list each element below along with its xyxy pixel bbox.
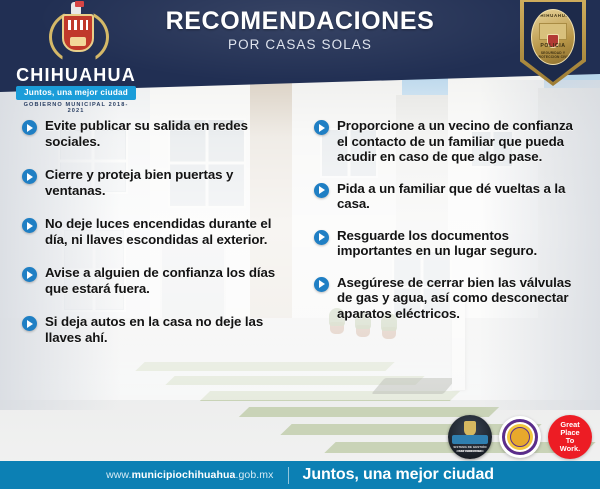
chevron-right-icon [22,267,37,282]
chevron-right-icon [314,277,329,292]
footer-badges: SISTEMA DE GESTIÓN ANTISOBORNO 37001 CER… [448,415,592,459]
great-place-to-work-badge: Great Place To Work. [548,415,592,459]
police-badge-icon: CHIHUAHUA POLICIA SEGURIDAD Y PROTECCION… [520,0,586,86]
footer-bar: www.municipiochihuahua.gob.mx Juntos, un… [0,461,600,489]
list-item-text: Resguarde los documentos importantes en … [337,228,586,259]
footer-website-url[interactable]: www.municipiochihuahua.gob.mx [106,469,273,481]
brand-name: CHIHUAHUA [16,66,136,84]
list-item: No deje luces encendidas durante el día,… [22,216,284,247]
shield-icon [62,14,94,52]
list-item-text: Avise a alguien de confianza los días qu… [45,265,284,296]
chevron-right-icon [314,120,329,135]
chevron-right-icon [314,183,329,198]
chevron-right-icon [22,218,37,233]
right-column: Proporcione a un vecino de confianza el … [300,118,600,363]
list-item: Avise a alguien de confianza los días qu… [22,265,284,296]
list-item-text: No deje luces encendidas durante el día,… [45,216,284,247]
brand-wordmark: CHIHUAHUA Juntos, una mejor ciudad GOBIE… [16,66,136,114]
list-item-text: Cierre y proteja bien puertas y ventanas… [45,167,284,198]
chevron-right-icon [22,120,37,135]
badge-bottom-text: SEGURIDAD Y PROTECCION CIVIL [532,51,574,59]
chevron-right-icon [22,169,37,184]
certification-line-2: 37001 CERTIFICADO [448,450,492,453]
list-item: Pida a un familiar que dé vueltas a la c… [314,181,586,212]
badge-top-text: CHIHUAHUA [532,13,574,18]
brand-government-line: GOBIERNO MUNICIPAL 2018-2021 [16,102,136,114]
list-item-text: Proporcione a un vecino de confianza el … [337,118,586,165]
list-item: Cierre y proteja bien puertas y ventanas… [22,167,284,198]
certification-crest-icon [464,421,476,436]
list-item: Resguarde los documentos importantes en … [314,228,586,259]
seal-core [510,427,530,447]
chevron-right-icon [314,230,329,245]
gold-seal-badge-icon [499,416,541,458]
footer-slogan: Juntos, una mejor ciudad [303,466,494,484]
list-item-text: Pida a un familiar que dé vueltas a la c… [337,181,586,212]
recommendations-content: Evite publicar su salida en redes social… [0,118,600,363]
certification-badge-icon: SISTEMA DE GESTIÓN ANTISOBORNO 37001 CER… [448,415,492,459]
recommendations-poster: RECOMENDACIONES POR CASAS SOLAS CHIHUAHU… [0,0,600,489]
left-column: Evite publicar su salida en redes social… [0,118,300,363]
url-domain: municipiochihuahua [132,469,236,481]
chevron-right-icon [22,316,37,331]
list-item-text: Si deja autos en la casa no deje las lla… [45,314,284,345]
list-item: Proporcione a un vecino de confianza el … [314,118,586,165]
url-suffix: .gob.mx [235,469,273,481]
list-item: Evite publicar su salida en redes social… [22,118,284,149]
list-item: Si deja autos en la casa no deje las lla… [22,314,284,345]
list-item-text: Asegúrese de cerrar bien las válvulas de… [337,275,586,322]
footer-divider [288,467,289,484]
brand-tagline: Juntos, una mejor ciudad [16,86,136,100]
url-prefix: www. [106,469,132,481]
gptw-line-4: Work. [560,445,580,453]
list-item: Asegúrese de cerrar bien las válvulas de… [314,275,586,322]
list-item-text: Evite publicar su salida en redes social… [45,118,284,149]
chihuahua-brand-block: CHIHUAHUA Juntos, una mejor ciudad GOBIE… [16,2,136,114]
coat-of-arms-icon [45,2,107,64]
badge-mid-text: POLICIA [532,43,574,49]
badge-oval-emblem: CHIHUAHUA POLICIA SEGURIDAD Y PROTECCION… [531,9,575,65]
certification-band [452,435,488,444]
